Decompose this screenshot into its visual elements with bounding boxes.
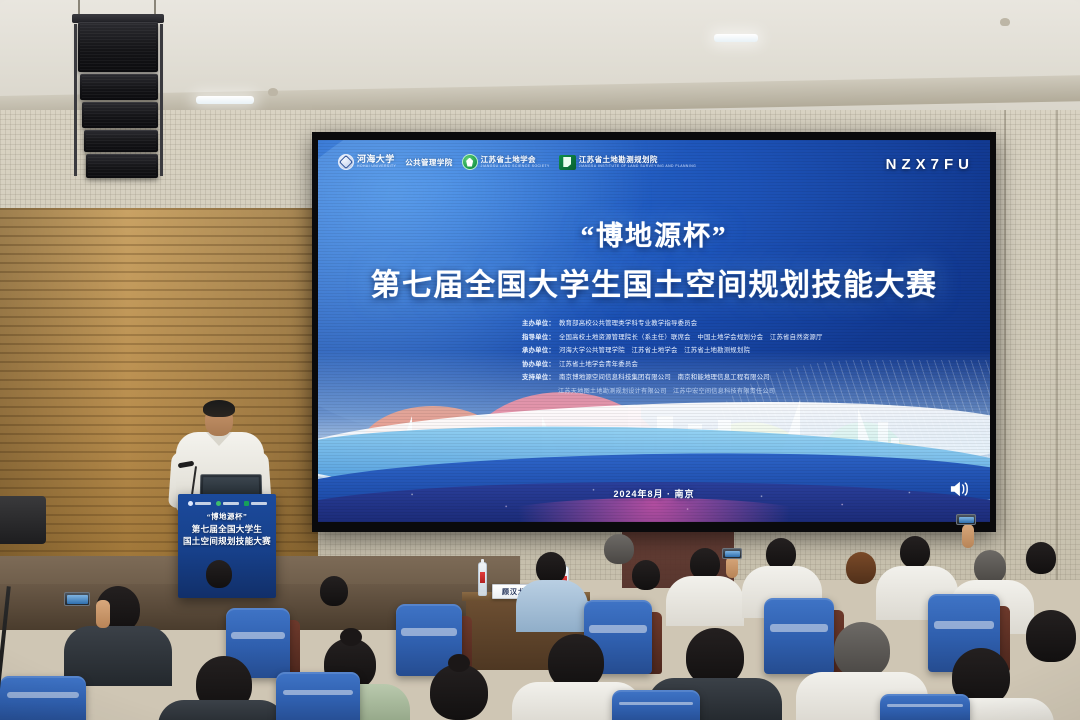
line-array-speaker-cluster (60, 0, 180, 200)
speaker-box (82, 102, 158, 128)
water-bottle (478, 562, 487, 596)
speaker-volume-icon (948, 480, 970, 498)
land-survey-institute-name-cn: 江苏省土地勘测规划院 (579, 156, 696, 164)
school-of-public-administration-name-cn: 公共管理学院 (405, 157, 452, 168)
led-screen: 河海大学 HOHAI UNIVERSITY 公共管理学院 江苏省土地学会 JIA… (318, 140, 990, 522)
podium-title-line3: 国土空间规划技能大赛 (182, 535, 272, 547)
land-science-society-emblem-icon (462, 154, 478, 170)
audience-hair-bun (448, 654, 470, 672)
jiangsu-land-science-society-logo: 江苏省土地学会 JIANGSU LAND SCIENCE SOCIETY (462, 154, 550, 170)
podium-title-line2: 第七届全国大学生 (182, 523, 272, 535)
podium-title-line1: “博地源杯” (182, 512, 272, 523)
speaker-box (78, 22, 158, 72)
recessed-ceiling-light (196, 96, 254, 104)
podium-logo-hohai-icon (188, 501, 211, 506)
credit-value: 教育部高校公共管理类学科专业教学指导委员会 (559, 318, 697, 327)
land-science-society-name-cn: 江苏省土地学会 (481, 156, 550, 164)
recessed-ceiling-light (714, 34, 758, 42)
podium-title-block: “博地源杯” 第七届全国大学生 国土空间规划技能大赛 (182, 512, 272, 548)
credit-value: 全国高校土地资源管理院长（系主任）联席会 中国土地学会规划分会 江苏省自然资源厅 (559, 332, 823, 341)
land-science-society-name-en: JIANGSU LAND SCIENCE SOCIETY (481, 165, 550, 168)
credit-value: 河海大学公共管理学院 江苏省土地学会 江苏省土地勘测规划院 (559, 345, 750, 354)
credit-key: 主办单位： (522, 318, 555, 327)
audience-hand (96, 600, 110, 628)
audience-head (834, 622, 890, 678)
conference-hall-photo: 河海大学 HOHAI UNIVERSITY 公共管理学院 江苏省土地学会 JIA… (0, 0, 1080, 720)
podium-logo-strip (184, 499, 270, 507)
screen-watermark: NZX7FU (886, 156, 974, 173)
event-date-location: 2024年8月 · 南京 (318, 487, 990, 500)
audience-hand (726, 556, 738, 578)
land-survey-institute-name-en: JIANGSU INSTITUTE OF LAND SURVEYING AND … (579, 165, 696, 168)
smartphone-recording[interactable] (64, 592, 90, 606)
credit-key: 协办单位： (522, 359, 555, 368)
ceiling-sensor-icon (1000, 18, 1010, 26)
audience-head (430, 664, 488, 720)
competition-sponsor-title: “博地源杯” (318, 214, 990, 253)
video-camera (0, 496, 46, 544)
audience-shoulders (158, 700, 286, 720)
auditorium-seat[interactable] (880, 694, 970, 720)
wall-panel-seam (1004, 110, 1006, 580)
credit-row: 主办单位： 教育部高校公共管理类学科专业教学指导委员会 (522, 318, 823, 327)
credit-row: 承办单位： 河海大学公共管理学院 江苏省土地学会 江苏省土地勘测规划院 (522, 345, 823, 354)
hohai-university-emblem-icon (338, 154, 354, 170)
credit-value: 南京博地源空间信息科技集团有限公司 南京和能地理信息工程有限公司 (559, 372, 770, 381)
wall-panel-seam (1056, 110, 1058, 580)
audience-head (604, 534, 634, 564)
audience-shoulders (666, 576, 744, 626)
organizer-logo-strip: 河海大学 HOHAI UNIVERSITY 公共管理学院 江苏省土地学会 JIA… (338, 154, 696, 170)
audience-head (900, 536, 930, 568)
ceiling-sensor-icon (268, 88, 278, 96)
credit-row: 支持单位： 南京博地源空间信息科技集团有限公司 南京和能地理信息工程有限公司 (522, 372, 823, 381)
credit-row: 协办单位： 江苏省土地学会青年委员会 (522, 359, 823, 368)
screen-title-block: “博地源杯” 第七届全国大学生国土空间规划技能大赛 (318, 214, 990, 304)
competition-main-title: 第七届全国大学生国土空间规划技能大赛 (318, 260, 990, 304)
audience-head (632, 560, 660, 590)
audience-hand (962, 524, 974, 548)
smartphone-recording[interactable] (956, 514, 976, 525)
jiangsu-land-survey-institute-logo: 江苏省土地勘测规划院 JIANGSU INSTITUTE OF LAND SUR… (559, 155, 696, 170)
podium-logo-survey-icon (244, 501, 267, 506)
auditorium-seat[interactable] (764, 598, 834, 674)
rigging-rod (154, 0, 156, 14)
school-of-public-administration-logo: 公共管理学院 (405, 157, 452, 168)
audience-hair-bun (340, 628, 362, 646)
presenter-hair (203, 400, 235, 417)
auditorium-seat[interactable] (0, 676, 86, 720)
land-survey-institute-emblem-icon (559, 155, 576, 170)
hohai-university-name-cn: 河海大学 (357, 155, 396, 164)
credit-key: 支持单位： (522, 372, 555, 381)
audience-shoulders (516, 580, 588, 632)
auditorium-seat[interactable] (276, 672, 360, 720)
audience-head (206, 560, 232, 588)
speaker-box (80, 74, 158, 100)
audience-head (846, 552, 876, 584)
speaker-box (86, 154, 158, 178)
speaker-side-arm (74, 24, 77, 176)
speaker-box (84, 130, 158, 152)
hohai-university-name-en: HOHAI UNIVERSITY (357, 165, 396, 168)
credit-key: 承办单位： (522, 345, 555, 354)
credit-value: 江苏省土地学会青年委员会 (559, 359, 638, 368)
credit-row: 指导单位： 全国高校土地资源管理院长（系主任）联席会 中国土地学会规划分会 江苏… (522, 332, 823, 341)
credit-key: 指导单位： (522, 332, 555, 341)
audience-head (1026, 610, 1076, 662)
audience-head (974, 550, 1006, 584)
auditorium-seat[interactable] (612, 690, 700, 720)
organizer-credits-block: 主办单位： 教育部高校公共管理类学科专业教学指导委员会 指导单位： 全国高校土地… (522, 318, 823, 395)
smartphone-recording[interactable] (722, 548, 742, 559)
hohai-university-logo: 河海大学 HOHAI UNIVERSITY (338, 154, 396, 170)
audience-head (1026, 542, 1056, 574)
speaker-side-arm (160, 24, 163, 176)
credit-value-continued: 江苏天地图土地勘测规划设计有限公司 江苏中宏空间信息科技有限责任公司 (558, 386, 823, 395)
audience-head (320, 576, 348, 606)
podium-logo-society-icon (216, 501, 239, 506)
